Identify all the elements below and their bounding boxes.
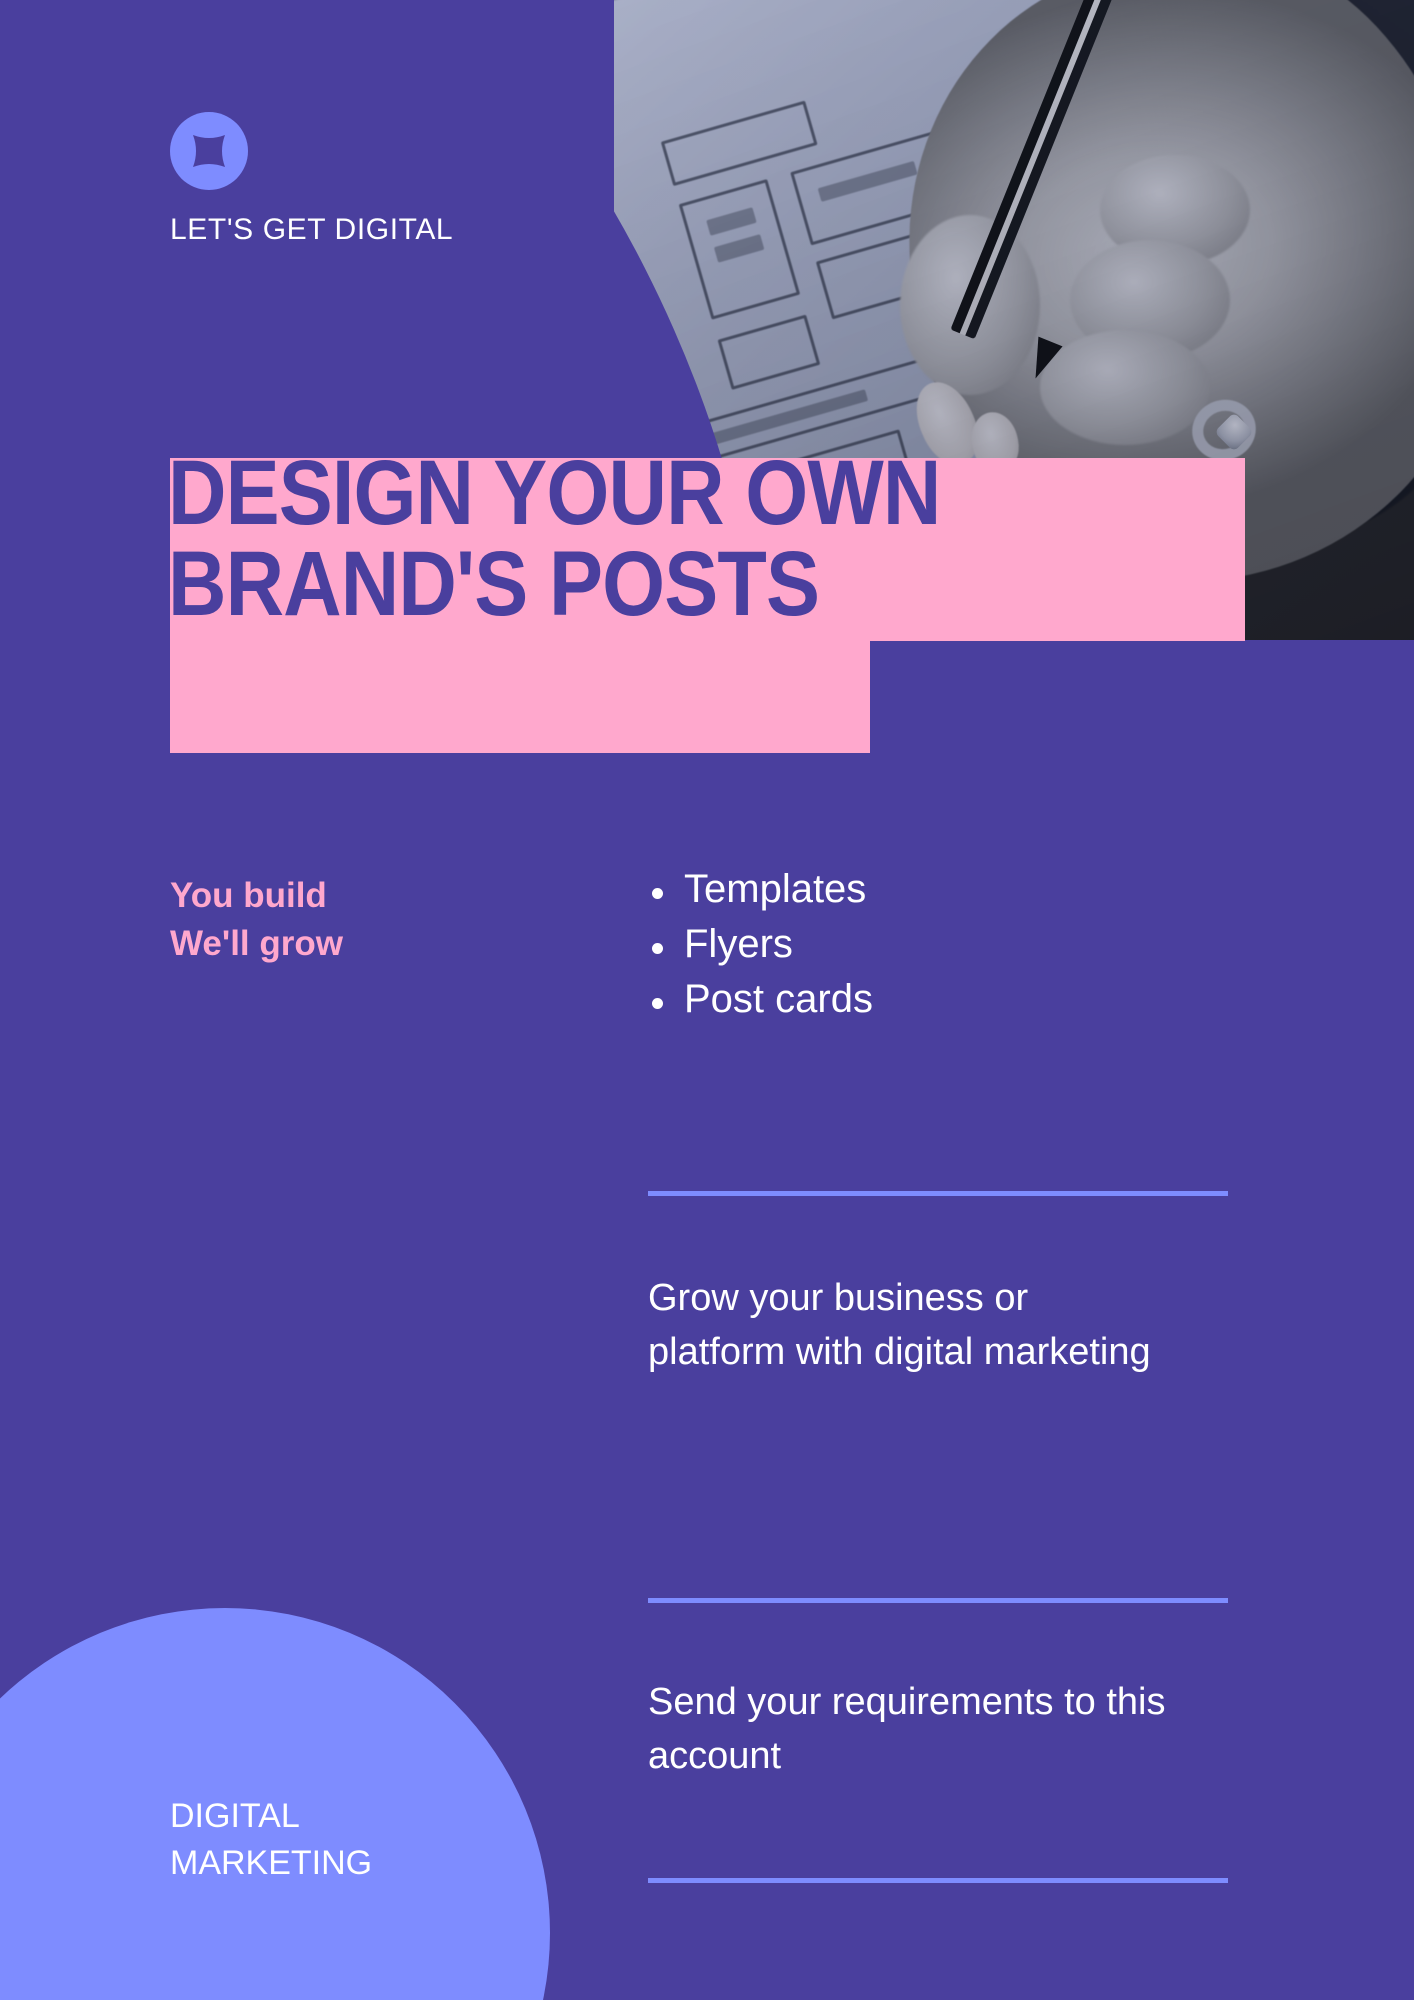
- divider-line: [648, 1598, 1228, 1603]
- services-list: Templates Flyers Post cards: [648, 862, 1228, 1026]
- list-item: Flyers: [648, 917, 1228, 972]
- badge-label: DIGITAL MARKETING: [170, 1793, 372, 1887]
- headline-pink-band-bottom: [170, 641, 870, 753]
- divider-line: [648, 1878, 1228, 1883]
- poster-canvas: LET'S GET DIGITAL DESIGN YOUR OWN BRAND'…: [0, 0, 1414, 2000]
- brand-name: LET'S GET DIGITAL: [170, 213, 453, 247]
- contact-paragraph: Send your requirements to this account: [648, 1676, 1208, 1784]
- divider-line: [648, 1191, 1228, 1196]
- growth-paragraph: Grow your business or platform with digi…: [648, 1272, 1168, 1380]
- page-title: DESIGN YOUR OWN BRAND'S POSTS: [168, 448, 1136, 630]
- brand-logo-icon: [170, 112, 248, 190]
- tagline: You build We'll grow: [170, 872, 343, 969]
- logo-inner-shape: [189, 131, 229, 171]
- list-item: Post cards: [648, 972, 1228, 1027]
- list-item: Templates: [648, 862, 1228, 917]
- services-column: Templates Flyers Post cards: [648, 862, 1228, 1026]
